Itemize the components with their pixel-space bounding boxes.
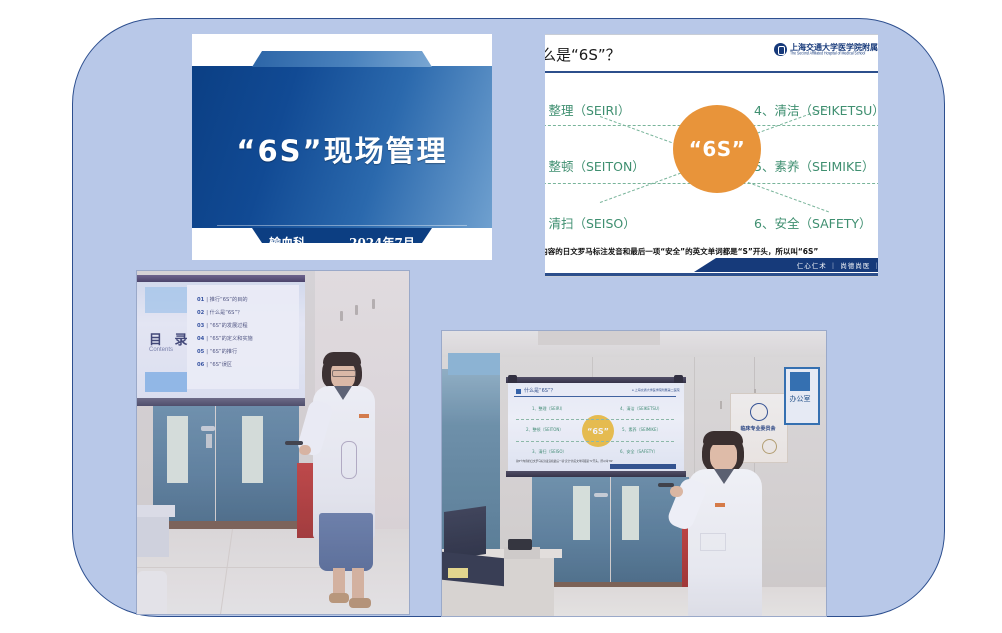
photo-presenter-contents: 目 录 Contents 01| 推行“6S”的目的 02| 什么是“6S”？ …	[136, 270, 410, 615]
six-s-slide-viewport: 什么是“6S”？ 上海交通大学医学院附属第二医院 The Second Affi…	[545, 34, 878, 277]
diagram-spoke-br	[748, 182, 829, 212]
six-s-item-3: 3、清扫（SEISO）	[545, 213, 636, 232]
six-s-slide-footer: 仁心仁术 ｜ 尚德尚医 ｜ 求实求新	[545, 258, 878, 272]
six-s-item-1: 1、整理（SEIRI）	[545, 100, 630, 119]
six-s-slide-heading: 什么是“6S”？	[545, 44, 621, 65]
six-s-diagram: “6S” 1、整理（SEIRI） 2、整顿（SEITON） 3、清扫（SEISO…	[545, 74, 878, 242]
hospital-wordmark: 上海交通大学医学院附属第二医院 The Second Affiliated Ho…	[790, 43, 878, 56]
six-s-footer-slogan: 仁心仁术 ｜ 尚德尚医 ｜ 求实求新	[797, 260, 878, 270]
six-s-item-6: 6、安全（SAFETY）	[754, 213, 872, 232]
title-slide: “6S”现场管理 输血科 2024年7月	[192, 34, 492, 260]
six-s-item-2: 2、整顿（SEITON）	[545, 156, 645, 175]
photo1-color-cast	[137, 271, 410, 615]
university-seal-icon	[774, 43, 787, 56]
six-s-header-rule	[545, 71, 878, 73]
title-slide-subtitle-row: 输血科 2024年7月	[192, 234, 492, 251]
six-s-item-5: 5、素养（SEIMIKE）	[754, 156, 875, 175]
six-s-slide-note: 前5个内容的日文罗马标注发音和最后一项“安全”的英文单词都是“S”开头，所以叫“…	[545, 246, 818, 257]
six-s-slide-baseline	[545, 273, 878, 276]
hospital-logo: 上海交通大学医学院附属第二医院 The Second Affiliated Ho…	[774, 43, 878, 56]
diagram-spoke-bl	[600, 173, 681, 203]
six-s-center-circle: “6S”	[673, 105, 761, 193]
photo-presenter-six-s: 什么是“6S”？ ● 上海交通大学医学院附属第二医院 “6S” 1、整理（SEI…	[441, 330, 827, 617]
photo2-color-cast	[442, 331, 827, 617]
title-slide-department: 输血科	[269, 234, 305, 251]
six-s-slide: 什么是“6S”？ 上海交通大学医学院附属第二医院 The Second Affi…	[545, 34, 878, 277]
diagram-spoke-tl	[600, 116, 681, 146]
six-s-item-4: 4、清洁（SEIKETSU）	[754, 100, 878, 119]
screenshot-root: “6S”现场管理 输血科 2024年7月 什么是“6S”？ 上海交通大学医学院附…	[0, 0, 1002, 633]
six-s-slide-header: 什么是“6S”？ 上海交通大学医学院附属第二医院 The Second Affi…	[545, 35, 878, 73]
title-slide-top-tab	[252, 51, 432, 67]
title-slide-heading: “6S”现场管理	[192, 128, 492, 170]
title-slide-divider	[217, 225, 467, 226]
title-slide-date: 2024年7月	[349, 234, 415, 251]
hospital-name-en: The Second Affiliated Hospital of Medica…	[790, 52, 878, 56]
